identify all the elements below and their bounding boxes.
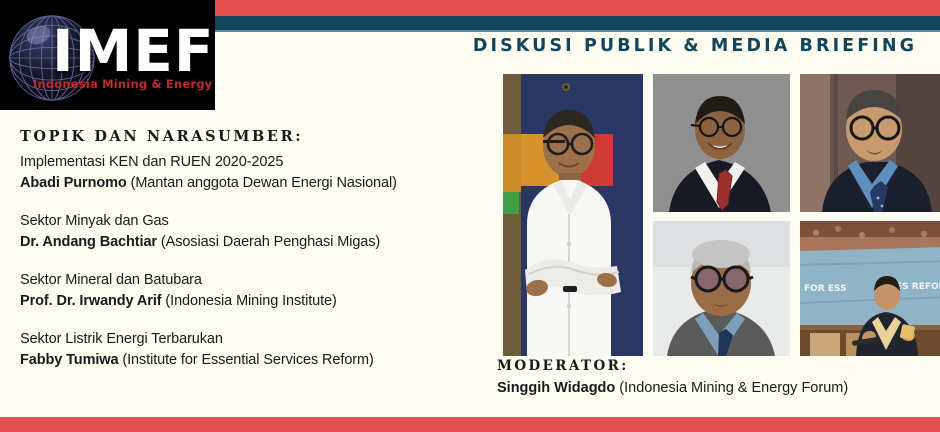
svg-text:FOR ESS: FOR ESS <box>804 284 847 294</box>
photo-abadi-purnomo <box>503 74 643 356</box>
topic-speaker: Fabby Tumiwa (Institute for Essential Se… <box>20 350 420 371</box>
topic-item: Implementasi KEN dan RUEN 2020-2025 Abad… <box>20 152 420 194</box>
portrait-illustration <box>653 221 790 356</box>
page-title: DISKUSI PUBLIK & MEDIA BRIEFING <box>460 36 930 56</box>
bottom-red-band <box>0 417 940 432</box>
top-red-band <box>215 0 940 16</box>
topic-title: Implementasi KEN dan RUEN 2020-2025 <box>20 152 420 173</box>
photo-andang-bachtiar <box>653 74 790 212</box>
moderator-line: Singgih Widagdo (Indonesia Mining & Ener… <box>497 380 937 396</box>
moderator-name: Singgih Widagdo <box>497 380 615 396</box>
topic-title: Sektor Minyak dan Gas <box>20 211 420 232</box>
logo-tagline: Indonesia Mining & Energy Forum <box>33 77 215 91</box>
moderator-heading: MODERATOR: <box>497 358 937 374</box>
speaker-affiliation: (Institute for Essential Services Reform… <box>122 352 373 368</box>
portrait-illustration <box>503 74 643 356</box>
speaker-affiliation: (Mantan anggota Dewan Energi Nasional) <box>131 175 397 191</box>
top-teal-hairline <box>215 30 940 32</box>
imef-logo: IMEF Indonesia Mining & Energy Forum <box>0 0 215 110</box>
stage-presentation-photo: FOR ESS ES REFORM <box>800 221 940 356</box>
portrait-illustration <box>653 74 790 212</box>
moderator-panel: MODERATOR: Singgih Widagdo (Indonesia Mi… <box>497 358 937 396</box>
photo-speaker-glasses <box>653 221 790 356</box>
logo-wordmark: IMEF <box>52 22 215 80</box>
top-teal-band <box>215 16 940 30</box>
topic-speaker: Prof. Dr. Irwandy Arif (Indonesia Mining… <box>20 291 420 312</box>
topic-item: Sektor Listrik Energi Terbarukan Fabby T… <box>20 329 420 371</box>
topics-panel: TOPIK DAN NARASUMBER: Implementasi KEN d… <box>20 128 420 388</box>
speaker-affiliation: (Indonesia Mining Institute) <box>165 293 336 309</box>
portrait-illustration <box>800 74 940 212</box>
photo-irwandy-arif <box>800 74 940 212</box>
speaker-affiliation: (Asosiasi Daerah Penghasi Migas) <box>161 234 380 250</box>
poster-canvas: IMEF Indonesia Mining & Energy Forum DIS… <box>0 0 940 432</box>
topic-title: Sektor Listrik Energi Terbarukan <box>20 329 420 350</box>
topic-item: Sektor Minyak dan Gas Dr. Andang Bachtia… <box>20 211 420 253</box>
speaker-name: Fabby Tumiwa <box>20 352 118 368</box>
svg-text:ES REFORM: ES REFORM <box>896 282 940 292</box>
topics-heading: TOPIK DAN NARASUMBER: <box>20 128 420 145</box>
topic-speaker: Dr. Andang Bachtiar (Asosiasi Daerah Pen… <box>20 232 420 253</box>
speaker-name: Dr. Andang Bachtiar <box>20 234 157 250</box>
topic-speaker: Abadi Purnomo (Mantan anggota Dewan Ener… <box>20 173 420 194</box>
photo-fabby-tumiwa: FOR ESS ES REFORM <box>800 221 940 356</box>
moderator-affiliation: (Indonesia Mining & Energy Forum) <box>619 380 848 396</box>
topic-item: Sektor Mineral dan Batubara Prof. Dr. Ir… <box>20 270 420 312</box>
speaker-name: Prof. Dr. Irwandy Arif <box>20 293 161 309</box>
speaker-name: Abadi Purnomo <box>20 175 127 191</box>
topic-title: Sektor Mineral dan Batubara <box>20 270 420 291</box>
